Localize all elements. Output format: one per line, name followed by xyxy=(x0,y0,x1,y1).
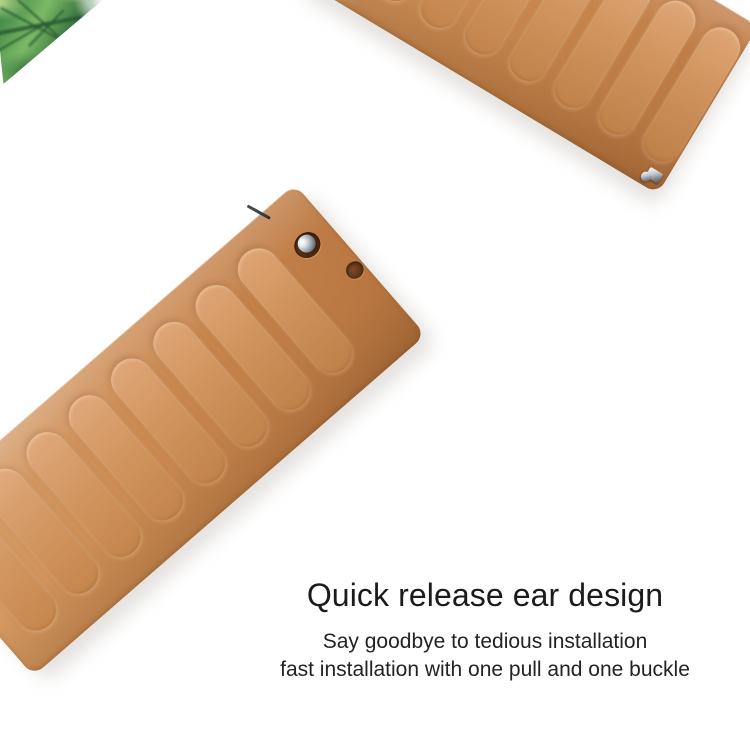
upper-watch-strap xyxy=(298,0,750,194)
tropical-leaf-print-corner xyxy=(0,0,112,84)
page-title: Quick release ear design xyxy=(250,576,720,614)
product-photo: Quick release ear design Say goodbye to … xyxy=(0,0,750,750)
caption-line-2: fast installation with one pull and one … xyxy=(250,656,720,684)
leaf-texture xyxy=(0,0,112,84)
caption-block: Quick release ear design Say goodbye to … xyxy=(250,576,720,684)
caption-line-1: Say goodbye to tedious installation xyxy=(250,628,720,656)
leaf-highlight xyxy=(74,0,112,29)
